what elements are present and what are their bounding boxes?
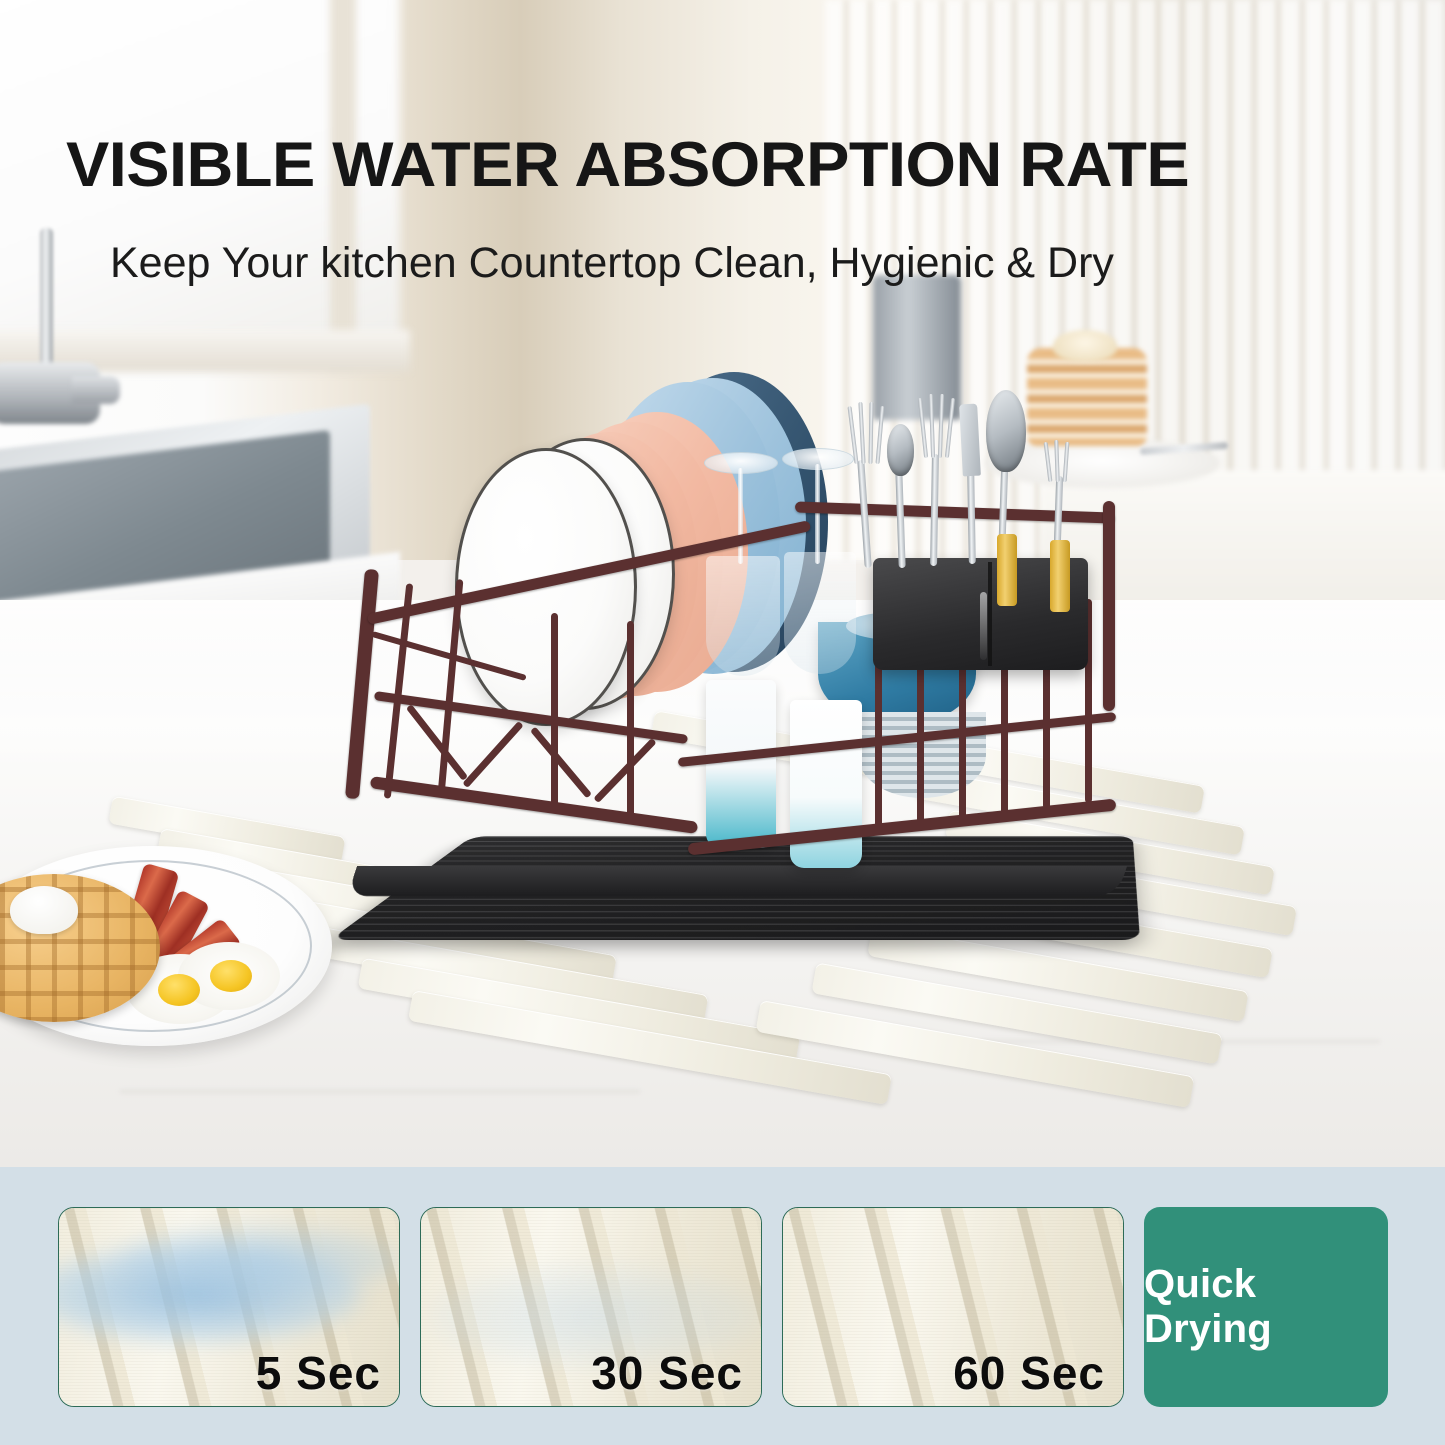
hero-photo: VISIBLE WATER ABSORPTION RATE Keep Your … xyxy=(0,0,1445,1167)
absorption-card-60sec[interactable]: 60 Sec xyxy=(782,1207,1124,1407)
yellow-handle xyxy=(1050,540,1070,612)
rack-mid-rail xyxy=(678,712,1117,767)
faucet-spout xyxy=(72,376,120,404)
rack-right-post xyxy=(1103,501,1115,711)
egg-yolk xyxy=(210,960,252,992)
water-stain xyxy=(119,1226,399,1296)
spoon-bowl xyxy=(986,390,1026,472)
plate-divider-wire xyxy=(462,721,523,788)
page-subtitle: Keep Your kitchen Countertop Clean, Hygi… xyxy=(110,240,1410,287)
rack-wire xyxy=(627,621,634,821)
absorption-card-row: 5 Sec 30 Sec 60 Sec Quick Drying xyxy=(58,1207,1388,1407)
quick-drying-label: Quick Drying xyxy=(1144,1262,1388,1352)
caddy-highlight xyxy=(980,592,987,660)
knife-blade xyxy=(959,404,981,477)
caddy-divider xyxy=(988,562,992,666)
spoon-bowl xyxy=(887,424,914,476)
waffle-breakfast-plate xyxy=(0,846,332,1046)
pancake-stack xyxy=(1027,348,1147,446)
rack-wire xyxy=(551,613,558,813)
rack-front-rail xyxy=(370,776,698,834)
product-infographic: VISIBLE WATER ABSORPTION RATE Keep Your … xyxy=(0,0,1445,1445)
card-label: 60 Sec xyxy=(953,1346,1105,1400)
absorption-card-5sec[interactable]: 5 Sec xyxy=(58,1207,400,1407)
plate-divider-wire xyxy=(593,738,656,803)
absorption-demo-panel: 5 Sec 30 Sec 60 Sec Quick Drying xyxy=(0,1167,1445,1445)
yellow-handle xyxy=(997,534,1017,606)
quick-drying-callout[interactable]: Quick Drying xyxy=(1144,1207,1388,1407)
absorption-card-30sec[interactable]: 30 Sec xyxy=(420,1207,762,1407)
pancake-topping xyxy=(1053,330,1117,362)
plate-divider-wire xyxy=(530,727,592,799)
rack-front-rail xyxy=(688,799,1117,856)
plate-divider-wire xyxy=(406,704,468,781)
egg-yolk xyxy=(158,974,200,1006)
card-label: 30 Sec xyxy=(591,1346,743,1400)
kitchen-canister xyxy=(873,275,961,420)
card-label: 5 Sec xyxy=(256,1346,381,1400)
page-title: VISIBLE WATER ABSORPTION RATE xyxy=(66,133,1436,199)
whipped-cream xyxy=(10,886,78,934)
